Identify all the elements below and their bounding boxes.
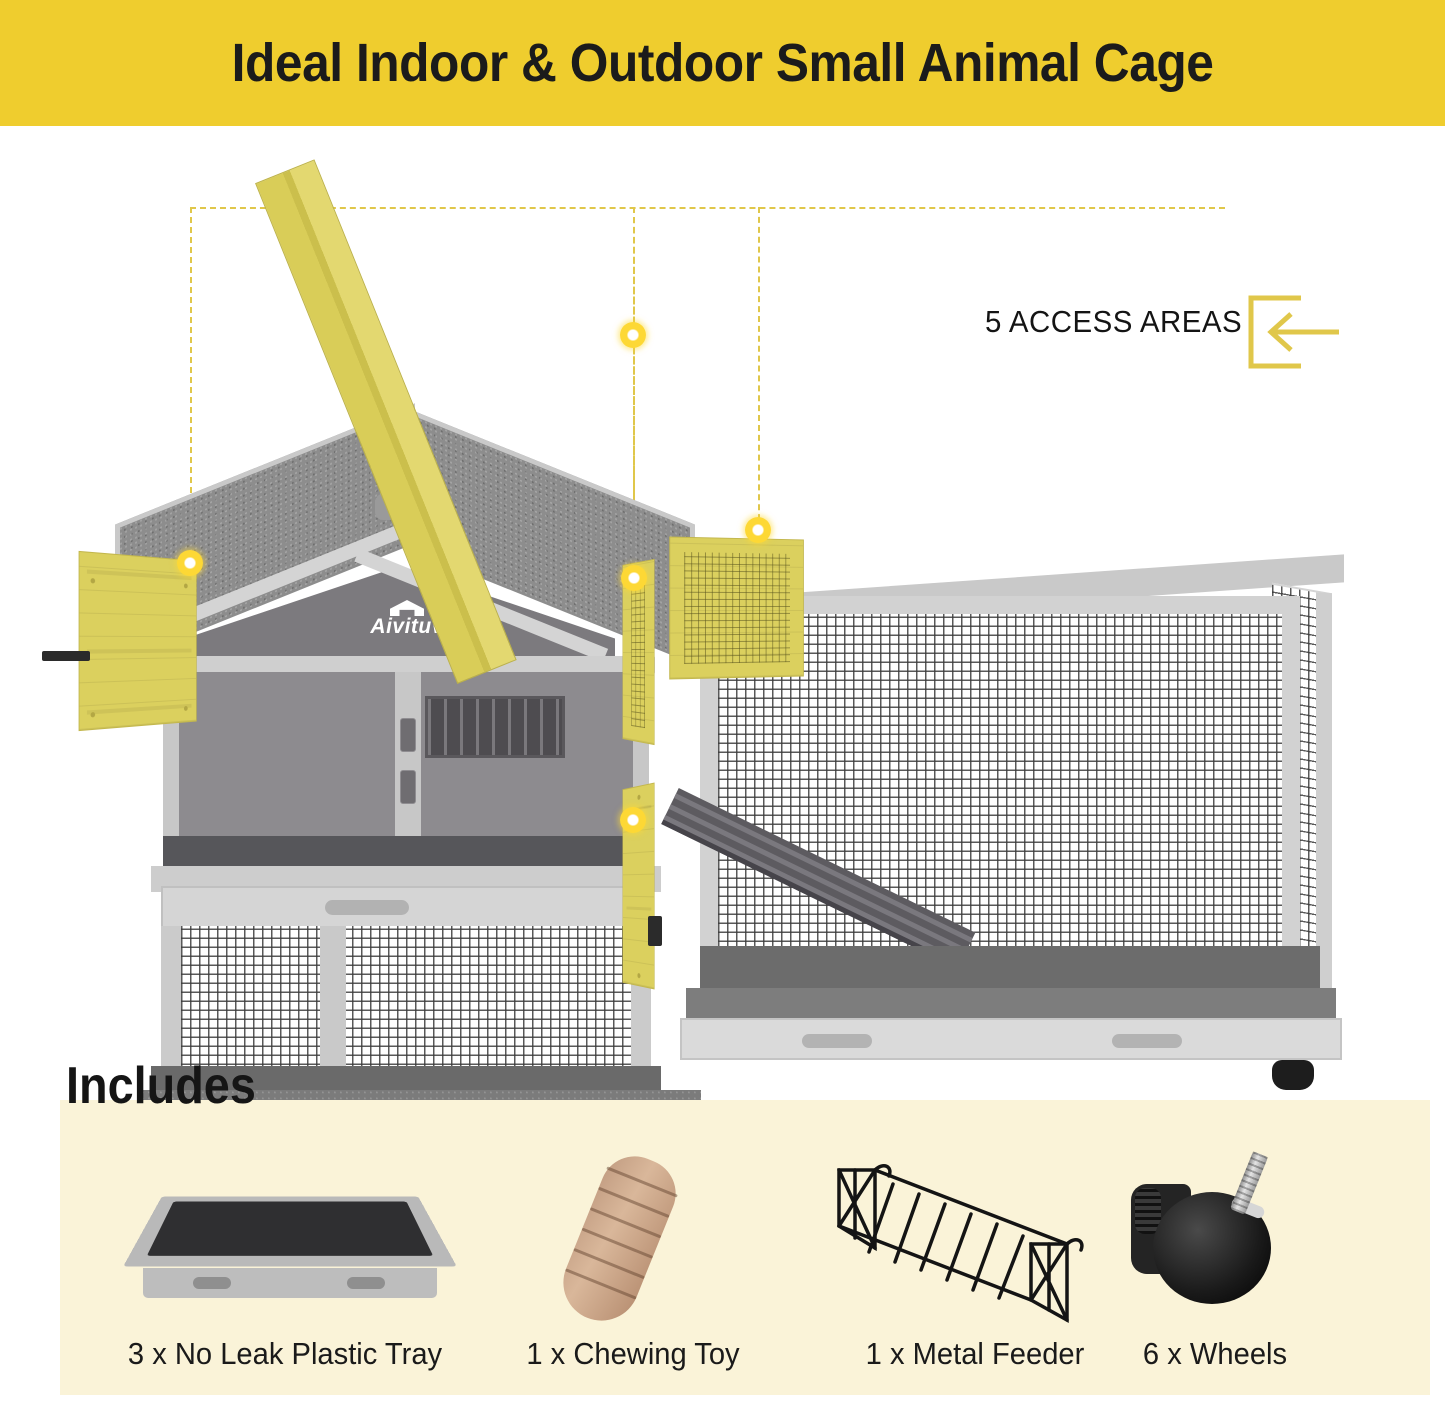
door-hinge-lower — [648, 916, 662, 946]
upper-latch — [400, 718, 416, 752]
product-illustration: 5 ACCESS AREAS — [0, 126, 1445, 1056]
include-item-label: 1 x Chewing Toy — [473, 1336, 793, 1372]
drawer-handle[interactable] — [325, 900, 409, 915]
run-tray-handle-slot — [1112, 1034, 1182, 1048]
access-areas-label: 5 ACCESS AREAS — [985, 304, 1242, 340]
enter-arrow-icon — [1243, 294, 1343, 370]
lower-compartment — [161, 926, 651, 1074]
upper-floor — [163, 836, 649, 868]
run-base-rail — [680, 1018, 1342, 1060]
includes-title: Includes — [66, 1056, 256, 1116]
installed-metal-feeder — [425, 696, 565, 758]
lower-center-post — [320, 926, 346, 1074]
caster-wheel-icon — [1045, 1140, 1385, 1330]
lower-mesh — [181, 926, 631, 1074]
door-upper-right[interactable] — [669, 536, 804, 679]
page-title: Ideal Indoor & Outdoor Small Animal Cage — [232, 32, 1214, 94]
include-item-chew-toy: 1 x Chewing Toy — [463, 1140, 803, 1395]
hotspot-upper-left-door — [177, 550, 203, 576]
upper-latch — [400, 770, 416, 804]
chewing-toy-icon — [463, 1140, 803, 1330]
hotspot-lower-door — [620, 807, 646, 833]
hotspot-roof-lid — [620, 322, 646, 348]
upper-center-post — [395, 672, 421, 862]
caster-wheel — [1272, 1060, 1314, 1090]
hotspot-upper-right-door — [745, 517, 771, 543]
plastic-tray-icon — [115, 1140, 455, 1330]
include-item-label: 6 x Wheels — [1055, 1336, 1375, 1372]
include-item-label: 3 x No Leak Plastic Tray — [125, 1336, 445, 1372]
include-item-wheels: 6 x Wheels — [1045, 1140, 1385, 1395]
hotspot-middle-door — [621, 565, 647, 591]
door-upper-left[interactable] — [79, 551, 197, 731]
leader-line-horizontal — [190, 207, 1225, 209]
header-banner: Ideal Indoor & Outdoor Small Animal Cage — [0, 0, 1445, 126]
door-hinge — [42, 651, 90, 661]
include-item-tray: 3 x No Leak Plastic Tray — [115, 1140, 455, 1395]
run-tray-handle-slot — [802, 1034, 872, 1048]
